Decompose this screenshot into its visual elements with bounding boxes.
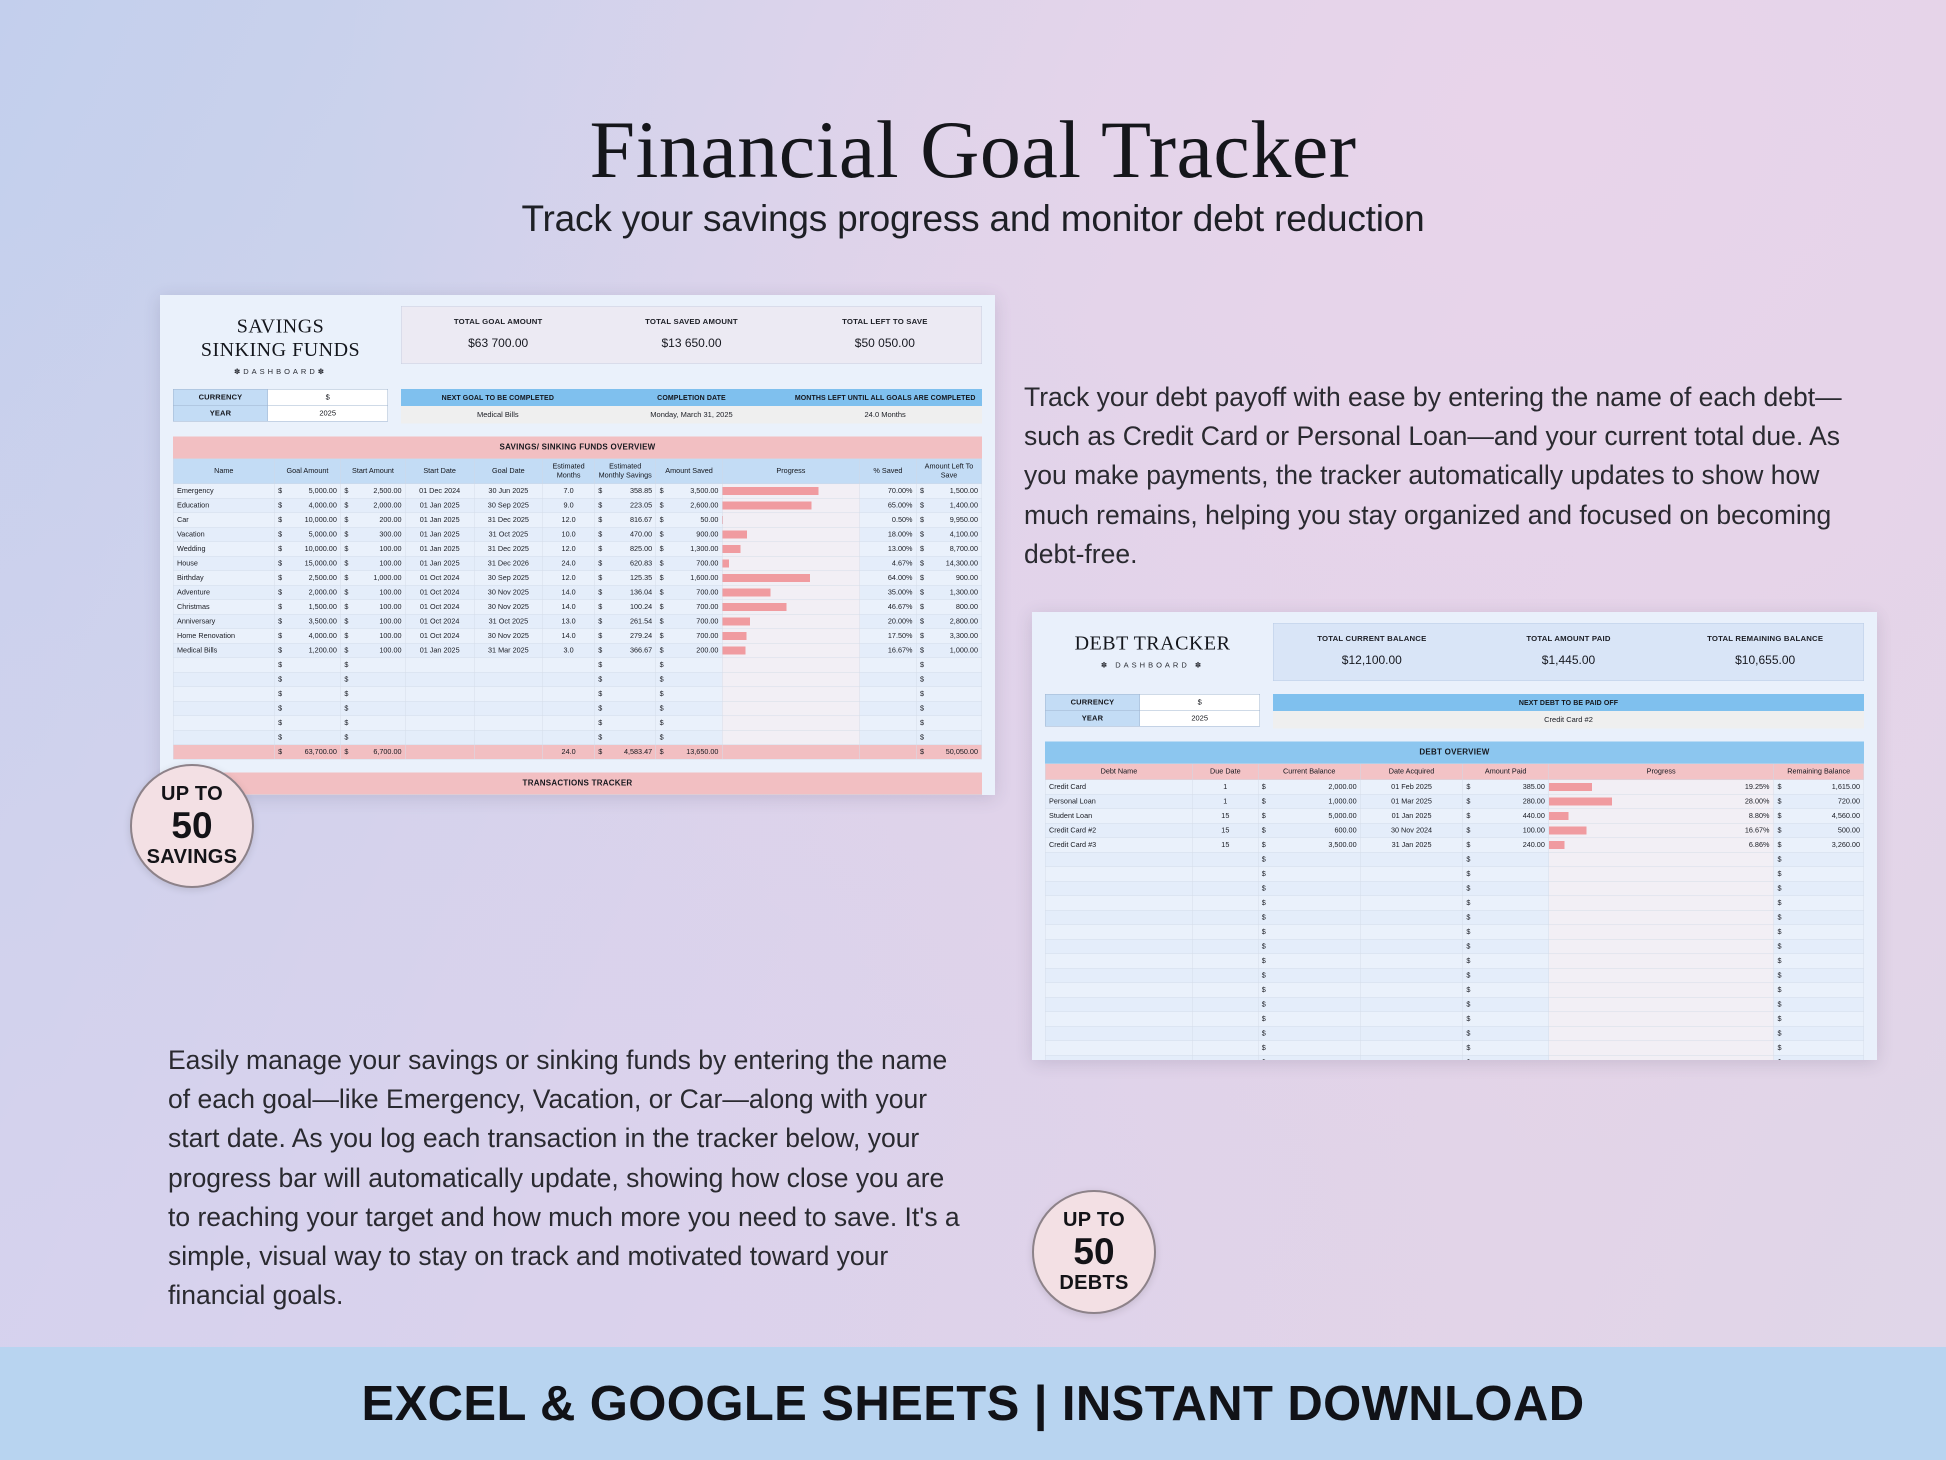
cell-money[interactable]: $15,000.00: [274, 556, 340, 571]
cell-empty[interactable]: [173, 687, 274, 702]
cell-money[interactable]: $100.00: [341, 600, 406, 615]
cell-empty[interactable]: [1045, 968, 1192, 983]
cell-money[interactable]: $: [1463, 881, 1549, 896]
cell-money[interactable]: $816.67: [594, 513, 655, 528]
cell-empty[interactable]: [860, 716, 917, 731]
cell-money[interactable]: $: [656, 701, 722, 716]
table-row-empty[interactable]: $$$: [1045, 983, 1864, 998]
table-row-empty[interactable]: $$$$$: [173, 716, 982, 731]
cell-percent-saved[interactable]: 0.50%: [860, 513, 917, 528]
savings-spreadsheet-card[interactable]: SAVINGS SINKING FUNDS ✽DASHBOARD✽ TOTAL …: [160, 295, 995, 795]
cell-empty[interactable]: [474, 730, 543, 745]
cell-money[interactable]: $: [1774, 1012, 1864, 1027]
cell-money[interactable]: $: [916, 658, 982, 673]
table-row-empty[interactable]: $$$: [1045, 1026, 1864, 1041]
cell-money[interactable]: $: [1774, 939, 1864, 954]
table-row[interactable]: Medical Bills$1,200.00$100.0001 Jan 2025…: [173, 643, 982, 658]
cell-money[interactable]: $700.00: [656, 585, 722, 600]
cell-money[interactable]: $: [1463, 925, 1549, 940]
cell-money[interactable]: $: [341, 658, 406, 673]
cell-money[interactable]: $6,700.00: [341, 745, 406, 760]
cell-money[interactable]: $900.00: [916, 571, 982, 586]
cell-money[interactable]: $200.00: [341, 513, 406, 528]
cell-money[interactable]: $: [1774, 968, 1864, 983]
cell-months[interactable]: 10.0: [543, 527, 595, 542]
cell-empty[interactable]: [860, 672, 917, 687]
cell-money[interactable]: $: [594, 716, 655, 731]
cell-empty[interactable]: [860, 701, 917, 716]
cell-empty[interactable]: [173, 716, 274, 731]
cell-empty[interactable]: [543, 701, 595, 716]
table-row[interactable]: Car$10,000.00$200.0001 Jan 202531 Dec 20…: [173, 513, 982, 528]
cell-empty[interactable]: [1360, 1055, 1462, 1060]
cell-start-date[interactable]: 01 Oct 2024: [405, 614, 474, 629]
cell-months[interactable]: 12.0: [543, 513, 595, 528]
cell-money[interactable]: $: [1463, 867, 1549, 882]
cell-months[interactable]: 3.0: [543, 643, 595, 658]
cell-empty[interactable]: [1193, 852, 1258, 867]
cell-empty[interactable]: [1193, 896, 1258, 911]
cell-money[interactable]: $2,000.00: [341, 498, 406, 513]
cell-money[interactable]: $: [274, 730, 340, 745]
cell-empty[interactable]: [1360, 1041, 1462, 1056]
cell-goal-date[interactable]: 30 Nov 2025: [474, 629, 543, 644]
cell-money[interactable]: $1,400.00: [916, 498, 982, 513]
cell-months[interactable]: 9.0: [543, 498, 595, 513]
cell-money[interactable]: $700.00: [656, 600, 722, 615]
cell-goal-date[interactable]: 31 Mar 2025: [474, 643, 543, 658]
cell-empty[interactable]: [1360, 939, 1462, 954]
table-row-empty[interactable]: $$$: [1045, 925, 1864, 940]
cell-money[interactable]: $200.00: [656, 643, 722, 658]
cell-money[interactable]: $4,583.47: [594, 745, 655, 760]
cell-debt-name[interactable]: Credit Card #2: [1045, 823, 1192, 838]
table-row-empty[interactable]: $$$: [1045, 881, 1864, 896]
cell-empty[interactable]: [1193, 910, 1258, 925]
cell-goal-date[interactable]: 30 Nov 2025: [474, 600, 543, 615]
cell-money[interactable]: $: [1463, 910, 1549, 925]
cell-money[interactable]: $10,000.00: [274, 542, 340, 557]
table-row[interactable]: Anniversary$3,500.00$100.0001 Oct 202431…: [173, 614, 982, 629]
cell-money[interactable]: $280.00: [1463, 794, 1549, 809]
cell-money[interactable]: $100.00: [1463, 823, 1549, 838]
cell-money[interactable]: $: [1774, 1041, 1864, 1056]
cell-money[interactable]: $620.83: [594, 556, 655, 571]
table-row-empty[interactable]: $$$: [1045, 939, 1864, 954]
cell-empty[interactable]: [1193, 881, 1258, 896]
cell-money[interactable]: $: [916, 687, 982, 702]
table-row[interactable]: Christmas$1,500.00$100.0001 Oct 202430 N…: [173, 600, 982, 615]
cell-start-date[interactable]: 01 Jan 2025: [405, 556, 474, 571]
table-row-empty[interactable]: $$$: [1045, 896, 1864, 911]
cell-empty[interactable]: [474, 658, 543, 673]
cell-money[interactable]: $1,300.00: [656, 542, 722, 557]
cell-money[interactable]: $5,000.00: [274, 484, 340, 499]
cell-money[interactable]: $: [1463, 1026, 1549, 1041]
cell-empty[interactable]: [1045, 925, 1192, 940]
cell-empty[interactable]: [1193, 867, 1258, 882]
debt-overview-table[interactable]: Debt NameDue DateCurrent BalanceDate Acq…: [1045, 764, 1864, 1061]
cell-money[interactable]: $: [1258, 910, 1360, 925]
cell-percent-saved[interactable]: 65.00%: [860, 498, 917, 513]
cell-money[interactable]: $1,000.00: [341, 571, 406, 586]
table-row-empty[interactable]: $$$: [1045, 968, 1864, 983]
table-row[interactable]: Wedding$10,000.00$100.0001 Jan 202531 De…: [173, 542, 982, 557]
cell-months[interactable]: 13.0: [543, 614, 595, 629]
cell-money[interactable]: $: [341, 716, 406, 731]
cell-money[interactable]: $1,200.00: [274, 643, 340, 658]
table-row[interactable]: Emergency$5,000.00$2,500.0001 Dec 202430…: [173, 484, 982, 499]
table-row-empty[interactable]: $$$: [1045, 852, 1864, 867]
cell-money[interactable]: $1,300.00: [916, 585, 982, 600]
debt-spreadsheet-card[interactable]: DEBT TRACKER ✽ DASHBOARD ✽ TOTAL CURRENT…: [1032, 612, 1877, 1060]
cell-start-date[interactable]: 01 Oct 2024: [405, 600, 474, 615]
cell-goal-date[interactable]: 30 Sep 2025: [474, 498, 543, 513]
table-row-empty[interactable]: $$$: [1045, 910, 1864, 925]
cell-money[interactable]: $: [1258, 939, 1360, 954]
cell-money[interactable]: $358.85: [594, 484, 655, 499]
cell-money[interactable]: $: [1463, 1041, 1549, 1056]
savings-currency-year-table[interactable]: CURRENCY $ YEAR 2025: [173, 389, 388, 422]
cell-money[interactable]: $: [916, 730, 982, 745]
cell-empty[interactable]: [1193, 1026, 1258, 1041]
cell-empty[interactable]: [1360, 954, 1462, 969]
cell-empty[interactable]: [1193, 1055, 1258, 1060]
cell-empty[interactable]: [1045, 867, 1192, 882]
cell-empty[interactable]: [722, 745, 859, 760]
cell-money[interactable]: $720.00: [1774, 794, 1864, 809]
cell-money[interactable]: $: [341, 730, 406, 745]
table-row[interactable]: Home Renovation$4,000.00$100.0001 Oct 20…: [173, 629, 982, 644]
cell-empty[interactable]: [1193, 997, 1258, 1012]
cell-due-date[interactable]: 1: [1193, 780, 1258, 795]
cell-money[interactable]: $: [1463, 1012, 1549, 1027]
cell-date-acquired[interactable]: 01 Feb 2025: [1360, 780, 1462, 795]
cell-money[interactable]: $: [1258, 983, 1360, 998]
cell-money[interactable]: $100.00: [341, 629, 406, 644]
cell-start-date[interactable]: 01 Jan 2025: [405, 527, 474, 542]
year-value[interactable]: 2025: [1140, 710, 1260, 726]
cell-empty[interactable]: [1360, 867, 1462, 882]
cell-money[interactable]: $: [1774, 954, 1864, 969]
cell-money[interactable]: $: [1258, 1041, 1360, 1056]
cell-money[interactable]: $: [656, 672, 722, 687]
cell-empty[interactable]: [474, 672, 543, 687]
cell-money[interactable]: $: [274, 658, 340, 673]
cell-money[interactable]: $125.35: [594, 571, 655, 586]
cell-money[interactable]: $100.00: [341, 556, 406, 571]
cell-money[interactable]: $223.05: [594, 498, 655, 513]
cell-money[interactable]: $: [656, 658, 722, 673]
cell-money[interactable]: $: [656, 716, 722, 731]
cell-money[interactable]: $: [1258, 925, 1360, 940]
cell-empty[interactable]: [543, 658, 595, 673]
cell-goal-date[interactable]: 30 Nov 2025: [474, 585, 543, 600]
cell-money[interactable]: $5,000.00: [1258, 809, 1360, 824]
cell-money[interactable]: $2,000.00: [274, 585, 340, 600]
cell-goal-name[interactable]: Emergency: [173, 484, 274, 499]
cell-empty[interactable]: [1193, 983, 1258, 998]
cell-money[interactable]: $13,650.00: [656, 745, 722, 760]
cell-empty[interactable]: [1360, 896, 1462, 911]
cell-money[interactable]: $: [1774, 881, 1864, 896]
cell-percent-saved[interactable]: 64.00%: [860, 571, 917, 586]
cell-goal-date[interactable]: 31 Dec 2026: [474, 556, 543, 571]
year-value[interactable]: 2025: [268, 405, 388, 421]
cell-empty[interactable]: [173, 658, 274, 673]
cell-money[interactable]: $: [1774, 925, 1864, 940]
cell-money[interactable]: $: [1774, 867, 1864, 882]
cell-money[interactable]: $3,260.00: [1774, 838, 1864, 853]
table-row-empty[interactable]: $$$$$: [173, 701, 982, 716]
cell-empty[interactable]: [1045, 939, 1192, 954]
cell-empty[interactable]: [1045, 997, 1192, 1012]
cell-start-date[interactable]: 01 Jan 2025: [405, 498, 474, 513]
cell-empty[interactable]: [173, 672, 274, 687]
cell-money[interactable]: $700.00: [656, 556, 722, 571]
cell-money[interactable]: $700.00: [656, 629, 722, 644]
cell-money[interactable]: $: [1463, 983, 1549, 998]
cell-empty[interactable]: [173, 730, 274, 745]
cell-empty[interactable]: [860, 658, 917, 673]
cell-money[interactable]: $366.67: [594, 643, 655, 658]
cell-empty[interactable]: [173, 701, 274, 716]
cell-money[interactable]: $: [1774, 910, 1864, 925]
cell-start-date[interactable]: 01 Oct 2024: [405, 585, 474, 600]
cell-percent-saved[interactable]: 20.00%: [860, 614, 917, 629]
cell-empty[interactable]: [1193, 968, 1258, 983]
cell-money[interactable]: $63,700.00: [274, 745, 340, 760]
cell-goal-name[interactable]: House: [173, 556, 274, 571]
cell-money[interactable]: $1,500.00: [274, 600, 340, 615]
table-row[interactable]: House$15,000.00$100.0001 Jan 202531 Dec …: [173, 556, 982, 571]
cell-goal-name[interactable]: Christmas: [173, 600, 274, 615]
cell-money[interactable]: $470.00: [594, 527, 655, 542]
cell-money[interactable]: $2,000.00: [1258, 780, 1360, 795]
cell-date-acquired[interactable]: 30 Nov 2024: [1360, 823, 1462, 838]
cell-money[interactable]: $3,300.00: [916, 629, 982, 644]
table-row[interactable]: Student Loan15$5,000.0001 Jan 2025$440.0…: [1045, 809, 1864, 824]
cell-money[interactable]: $: [1258, 997, 1360, 1012]
table-row-empty[interactable]: $$$$$: [173, 658, 982, 673]
cell-goal-name[interactable]: Education: [173, 498, 274, 513]
cell-months[interactable]: 12.0: [543, 542, 595, 557]
cell-money[interactable]: $: [1774, 1055, 1864, 1060]
cell-empty[interactable]: [1360, 968, 1462, 983]
cell-goal-name[interactable]: Birthday: [173, 571, 274, 586]
cell-goal-date[interactable]: 31 Dec 2025: [474, 513, 543, 528]
cell-money[interactable]: $: [274, 687, 340, 702]
cell-money[interactable]: $8,700.00: [916, 542, 982, 557]
cell-empty[interactable]: [173, 745, 274, 760]
cell-empty[interactable]: [1045, 1012, 1192, 1027]
cell-money[interactable]: $100.00: [341, 542, 406, 557]
cell-start-date[interactable]: 01 Oct 2024: [405, 571, 474, 586]
cell-empty[interactable]: [405, 730, 474, 745]
cell-money[interactable]: $: [916, 716, 982, 731]
cell-empty[interactable]: [1045, 852, 1192, 867]
table-row[interactable]: Education$4,000.00$2,000.0001 Jan 202530…: [173, 498, 982, 513]
cell-empty[interactable]: [405, 672, 474, 687]
cell-empty[interactable]: [1360, 1026, 1462, 1041]
table-row-empty[interactable]: $$$: [1045, 1055, 1864, 1060]
cell-money[interactable]: $100.00: [341, 614, 406, 629]
cell-money[interactable]: $1,000.00: [916, 643, 982, 658]
cell-empty[interactable]: [543, 672, 595, 687]
cell-debt-name[interactable]: Credit Card: [1045, 780, 1192, 795]
cell-money[interactable]: $: [1463, 968, 1549, 983]
cell-due-date[interactable]: 15: [1193, 809, 1258, 824]
cell-money[interactable]: $900.00: [656, 527, 722, 542]
cell-money[interactable]: $: [274, 701, 340, 716]
cell-percent-saved[interactable]: 70.00%: [860, 484, 917, 499]
debt-table-body[interactable]: Credit Card1$2,000.0001 Feb 2025$385.001…: [1045, 780, 1864, 1060]
cell-empty[interactable]: [860, 687, 917, 702]
cell-empty[interactable]: [1045, 1041, 1192, 1056]
cell-empty[interactable]: [860, 730, 917, 745]
cell-money[interactable]: $: [1258, 867, 1360, 882]
cell-months[interactable]: 7.0: [543, 484, 595, 499]
cell-money[interactable]: $: [1774, 983, 1864, 998]
cell-empty[interactable]: [1360, 910, 1462, 925]
cell-percent-saved[interactable]: 18.00%: [860, 527, 917, 542]
cell-money[interactable]: $440.00: [1463, 809, 1549, 824]
cell-date-acquired[interactable]: 31 Jan 2025: [1360, 838, 1462, 853]
cell-empty[interactable]: [1360, 852, 1462, 867]
savings-overview-table[interactable]: NameGoal AmountStart AmountStart DateGoa…: [173, 459, 982, 760]
cell-money[interactable]: $: [594, 687, 655, 702]
cell-empty[interactable]: [405, 745, 474, 760]
cell-empty[interactable]: [1360, 997, 1462, 1012]
cell-goal-date[interactable]: 31 Oct 2025: [474, 527, 543, 542]
cell-money[interactable]: $: [1774, 852, 1864, 867]
cell-months[interactable]: 24.0: [543, 556, 595, 571]
cell-percent-saved[interactable]: 13.00%: [860, 542, 917, 557]
cell-money[interactable]: $: [594, 672, 655, 687]
cell-goal-name[interactable]: Adventure: [173, 585, 274, 600]
table-row[interactable]: Vacation$5,000.00$300.0001 Jan 202531 Oc…: [173, 527, 982, 542]
cell-empty[interactable]: [860, 745, 917, 760]
cell-percent-saved[interactable]: 4.67%: [860, 556, 917, 571]
cell-money[interactable]: $2,500.00: [274, 571, 340, 586]
cell-money[interactable]: $: [916, 701, 982, 716]
cell-money[interactable]: $100.00: [341, 585, 406, 600]
cell-percent-saved[interactable]: 17.50%: [860, 629, 917, 644]
cell-empty[interactable]: [1045, 881, 1192, 896]
cell-money[interactable]: $: [274, 672, 340, 687]
cell-debt-name[interactable]: Credit Card #3: [1045, 838, 1192, 853]
cell-debt-name[interactable]: Personal Loan: [1045, 794, 1192, 809]
cell-money[interactable]: $: [594, 701, 655, 716]
cell-goal-name[interactable]: Wedding: [173, 542, 274, 557]
cell-debt-name[interactable]: Student Loan: [1045, 809, 1192, 824]
cell-empty[interactable]: [1045, 983, 1192, 998]
cell-money[interactable]: $3,500.00: [1258, 838, 1360, 853]
cell-money[interactable]: $14,300.00: [916, 556, 982, 571]
cell-money[interactable]: $600.00: [1258, 823, 1360, 838]
cell-empty[interactable]: [1360, 1012, 1462, 1027]
cell-date-acquired[interactable]: 01 Mar 2025: [1360, 794, 1462, 809]
cell-money[interactable]: $100.00: [341, 643, 406, 658]
cell-money[interactable]: $50.00: [656, 513, 722, 528]
cell-empty[interactable]: [474, 701, 543, 716]
cell-money[interactable]: $4,000.00: [274, 498, 340, 513]
cell-money[interactable]: $: [916, 672, 982, 687]
cell-money[interactable]: $: [341, 701, 406, 716]
cell-money[interactable]: $: [1774, 1026, 1864, 1041]
currency-value[interactable]: $: [268, 389, 388, 405]
cell-percent-saved[interactable]: 46.67%: [860, 600, 917, 615]
savings-table-body[interactable]: Emergency$5,000.00$2,500.0001 Dec 202430…: [173, 484, 982, 760]
cell-start-date[interactable]: 01 Jan 2025: [405, 513, 474, 528]
cell-months[interactable]: 14.0: [543, 600, 595, 615]
cell-money[interactable]: $10,000.00: [274, 513, 340, 528]
cell-money[interactable]: $: [1258, 896, 1360, 911]
cell-money[interactable]: $: [1258, 968, 1360, 983]
cell-empty[interactable]: [1045, 1026, 1192, 1041]
cell-money[interactable]: $500.00: [1774, 823, 1864, 838]
cell-money[interactable]: $4,100.00: [916, 527, 982, 542]
cell-goal-name[interactable]: Vacation: [173, 527, 274, 542]
table-row[interactable]: Credit Card #315$3,500.0031 Jan 2025$240…: [1045, 838, 1864, 853]
cell-empty[interactable]: [1045, 1055, 1192, 1060]
cell-empty[interactable]: [474, 716, 543, 731]
table-row[interactable]: Credit Card #215$600.0030 Nov 2024$100.0…: [1045, 823, 1864, 838]
table-row-empty[interactable]: $$$$$: [173, 672, 982, 687]
table-row-empty[interactable]: $$$: [1045, 997, 1864, 1012]
cell-money[interactable]: $4,560.00: [1774, 809, 1864, 824]
cell-money[interactable]: $240.00: [1463, 838, 1549, 853]
cell-total-months[interactable]: 24.0: [543, 745, 595, 760]
table-row-empty[interactable]: $$$$$: [173, 730, 982, 745]
cell-start-date[interactable]: 01 Oct 2024: [405, 629, 474, 644]
cell-money[interactable]: $2,600.00: [656, 498, 722, 513]
cell-money[interactable]: $3,500.00: [274, 614, 340, 629]
table-row-empty[interactable]: $$$: [1045, 1012, 1864, 1027]
cell-empty[interactable]: [1045, 896, 1192, 911]
cell-goal-date[interactable]: 31 Oct 2025: [474, 614, 543, 629]
cell-money[interactable]: $2,800.00: [916, 614, 982, 629]
cell-empty[interactable]: [474, 745, 543, 760]
cell-money[interactable]: $: [1258, 881, 1360, 896]
cell-date-acquired[interactable]: 01 Jan 2025: [1360, 809, 1462, 824]
cell-empty[interactable]: [1045, 954, 1192, 969]
cell-money[interactable]: $: [656, 730, 722, 745]
cell-due-date[interactable]: 1: [1193, 794, 1258, 809]
cell-empty[interactable]: [405, 701, 474, 716]
cell-money[interactable]: $: [1774, 997, 1864, 1012]
cell-percent-saved[interactable]: 35.00%: [860, 585, 917, 600]
cell-empty[interactable]: [1360, 881, 1462, 896]
cell-goal-name[interactable]: Anniversary: [173, 614, 274, 629]
table-row-empty[interactable]: $$$: [1045, 867, 1864, 882]
cell-money[interactable]: $: [1774, 896, 1864, 911]
currency-value[interactable]: $: [1140, 694, 1260, 710]
table-row[interactable]: Birthday$2,500.00$1,000.0001 Oct 202430 …: [173, 571, 982, 586]
cell-months[interactable]: 14.0: [543, 585, 595, 600]
cell-money[interactable]: $2,500.00: [341, 484, 406, 499]
cell-goal-date[interactable]: 30 Sep 2025: [474, 571, 543, 586]
cell-money[interactable]: $: [274, 716, 340, 731]
cell-empty[interactable]: [543, 730, 595, 745]
cell-goal-name[interactable]: Medical Bills: [173, 643, 274, 658]
cell-empty[interactable]: [1193, 925, 1258, 940]
cell-empty[interactable]: [1045, 910, 1192, 925]
cell-months[interactable]: 14.0: [543, 629, 595, 644]
cell-money[interactable]: $9,950.00: [916, 513, 982, 528]
cell-empty[interactable]: [1360, 925, 1462, 940]
cell-empty[interactable]: [1360, 983, 1462, 998]
